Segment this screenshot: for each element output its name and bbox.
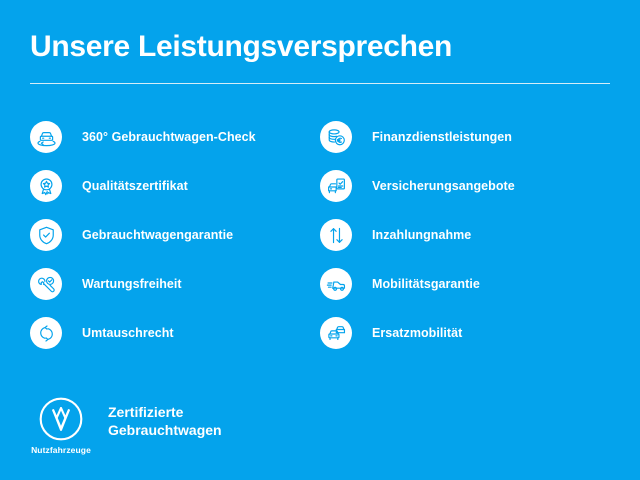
brand-lockup: Nutzfahrzeuge Zertifizierte Gebrauchtwag… [30,396,222,455]
benefit-icon-badge [30,170,62,202]
benefit-item: Gebrauchtwagengarantie [30,219,320,251]
benefit-label: Gebrauchtwagengarantie [82,229,233,242]
benefits-grid: 360° Gebrauchtwagen-Check Qualitätszerti… [30,121,610,349]
quality-seal-icon [36,176,57,197]
up-down-arrows-icon [326,225,347,246]
car-360-check-icon [36,127,57,148]
benefit-label: Umtauschrecht [82,327,174,340]
benefit-icon-badge [320,121,352,153]
page-title: Unsere Leistungsversprechen [30,30,610,63]
benefit-label: Versicherungsangebote [372,180,515,193]
car-document-check-icon [326,176,347,197]
shield-check-icon [36,225,57,246]
benefit-label: Qualitätszertifikat [82,180,188,193]
brand-claim: Zertifizierte Gebrauchtwagen [108,403,222,440]
header: Unsere Leistungsversprechen [30,30,610,84]
wrench-check-icon [36,274,57,295]
benefit-icon-badge [30,268,62,300]
brand-mark: Nutzfahrzeuge [30,396,92,455]
benefit-item: Mobilitätsgarantie [320,268,610,300]
exchange-arrows-icon [36,323,57,344]
benefit-label: Inzahlungnahme [372,229,471,242]
brand-sub-label: Nutzfahrzeuge [31,446,91,455]
coins-euro-icon [326,127,347,148]
benefit-icon-badge [30,121,62,153]
benefit-item: 360° Gebrauchtwagen-Check [30,121,320,153]
brand-claim-line-2: Gebrauchtwagen [108,421,222,439]
van-motion-icon [326,274,347,295]
brand-claim-line-1: Zertifizierte [108,403,222,421]
benefit-item: Versicherungsangebote [320,170,610,202]
benefit-icon-badge [320,317,352,349]
benefit-icon-badge [30,317,62,349]
benefit-label: Ersatzmobilität [372,327,462,340]
promise-slide: Unsere Leistungsversprechen 360° Gebrauc… [0,0,640,480]
benefits-right-column: Finanzdienstleistungen Versicherungsange… [320,121,610,349]
volkswagen-logo [38,396,84,442]
benefit-icon-badge [320,219,352,251]
benefit-item: Qualitätszertifikat [30,170,320,202]
benefit-icon-badge [30,219,62,251]
benefit-item: Umtauschrecht [30,317,320,349]
benefits-left-column: 360° Gebrauchtwagen-Check Qualitätszerti… [30,121,320,349]
benefit-item: Inzahlungnahme [320,219,610,251]
two-cars-icon [326,323,347,344]
benefit-label: Mobilitätsgarantie [372,278,480,291]
benefit-item: Finanzdienstleistungen [320,121,610,153]
benefit-item: Ersatzmobilität [320,317,610,349]
benefit-item: Wartungsfreiheit [30,268,320,300]
benefit-label: Wartungsfreiheit [82,278,182,291]
benefit-label: 360° Gebrauchtwagen-Check [82,131,256,144]
benefit-label: Finanzdienstleistungen [372,131,512,144]
benefit-icon-badge [320,170,352,202]
title-divider [30,83,610,84]
benefit-icon-badge [320,268,352,300]
